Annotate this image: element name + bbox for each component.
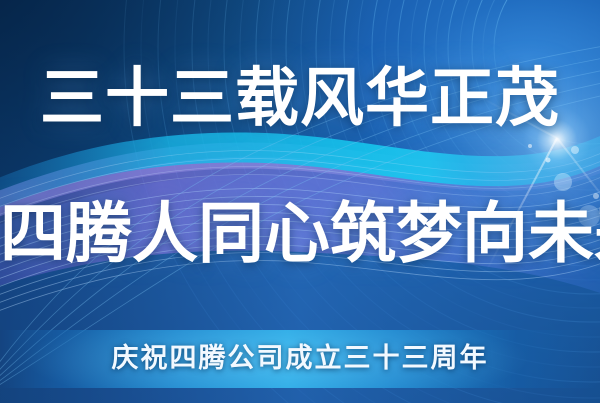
headline-line-1: 三十三载风华正茂 — [0, 66, 600, 130]
headline-line-2: 四腾人同心筑梦向未来 — [0, 200, 600, 266]
anniversary-poster: 三十三载风华正茂 四腾人同心筑梦向未来 庆祝四腾公司成立三十三周年 — [0, 0, 600, 403]
poster-content: 三十三载风华正茂 四腾人同心筑梦向未来 庆祝四腾公司成立三十三周年 — [0, 0, 600, 403]
poster-subtitle: 庆祝四腾公司成立三十三周年 — [0, 345, 600, 372]
